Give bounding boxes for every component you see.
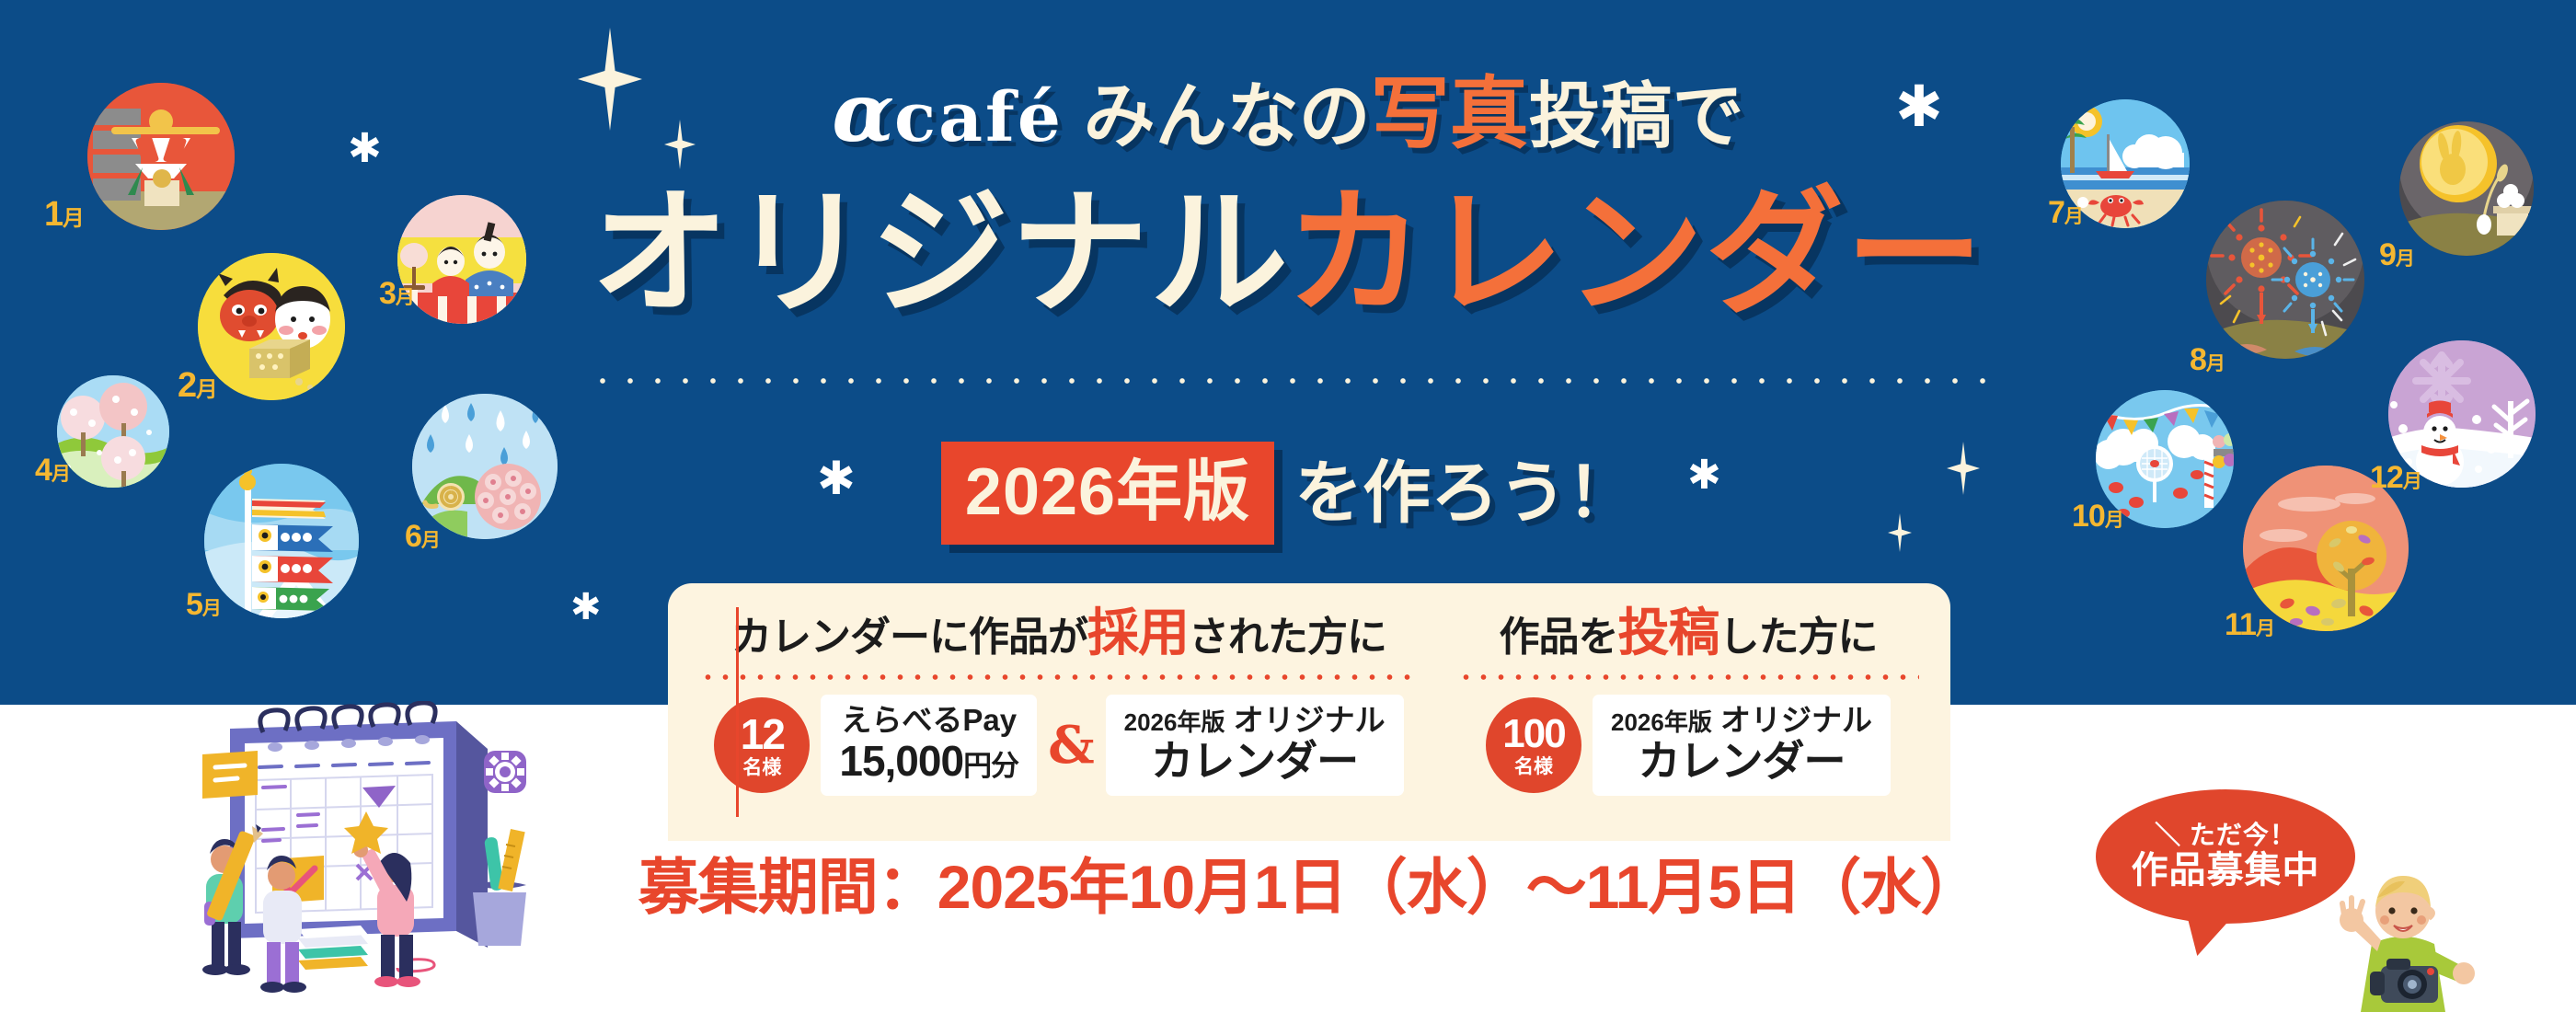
title-cream-part: オリジナル [591,176,1286,330]
calendar-scene-svg [164,701,569,995]
dotted-separator [699,673,1419,682]
heading-post-text: した方に [1719,615,1878,660]
prize-calendar-original-left: オリジナル [1234,703,1386,737]
month-label-8: 8月 [2190,342,2225,378]
heading-pre-text: 作品を [1500,615,1618,660]
prize-row-posted: 100 名様 2026年版 オリジナル カレンダー [1454,695,1923,796]
month-label-2: 2月 [178,366,217,406]
heading-highlight-text: 投稿 [1618,604,1719,661]
winner-count-badge-100: 100 名様 [1486,697,1581,793]
prize-calendar-name-right: カレンダー [1611,738,1872,785]
prize-row-adopted: 12 名様 えらべるPay 15,000円分 & 2026年版 オリジナル カレ… [696,695,1422,796]
winner-count-badge-12: 12 名様 [714,697,810,793]
prize-box-calendar-right: 2026年版 オリジナル カレンダー [1593,695,1891,796]
prize-pay-amount: 15,000円分 [839,738,1018,785]
prize-pay-label: えらべるPay [839,704,1018,738]
prize-calendar-name-left: カレンダー [1124,738,1386,785]
application-period-text: 募集期間：2025年10月1日（水）～11月5日（水） [638,857,1980,917]
month-label-11: 11月 [2225,607,2274,643]
prize-calendar-label-right: 2026年版 オリジナル [1611,704,1872,738]
ampersand-connector: & [1048,715,1095,776]
prize-calendar-year-left: 2026年版 [1124,708,1225,736]
winner-count-unit: 名様 [742,758,781,777]
dotted-divider [589,375,2006,386]
prize-column-adopted: カレンダーに作品が採用された方に 12 名様 えらべるPay 15,000円分 … [696,607,1422,841]
asterisk-sparkle-icon: ✱ [570,589,602,626]
prize-calendar-year-right: 2026年版 [1611,708,1712,736]
bubble-line-2: 作品募集中 [2132,849,2320,891]
alpha-logo-glyph: α [832,64,894,160]
photographer-svg [2328,856,2493,1012]
prize-heading-adopted: カレンダーに作品が採用された方に [696,607,1422,659]
month-label-5: 5月 [186,587,221,623]
prize-calendar-original-right: オリジナル [1720,703,1872,737]
tagline-part1: みんなの [1084,75,1371,156]
tagline-part2: 投稿で [1529,75,1744,156]
subline-suffix: を作ろう！ [1294,459,1635,527]
heading-post-text: された方に [1189,615,1386,660]
heading-pre-text: カレンダーに作品が [731,615,1087,660]
prize-column-posted: 作品を投稿した方に 100 名様 2026年版 オリジナル カレンダー [1422,607,1923,841]
prize-box-calendar-left: 2026年版 オリジナル カレンダー [1106,695,1404,796]
card-vertical-divider [736,607,739,817]
calendar-illustration [164,701,569,995]
photographer-illustration [2328,856,2493,1012]
application-period-bar: 募集期間：2025年10月1日（水）～11月5日（水） [668,841,1950,933]
heading-highlight-text: 採用 [1087,604,1189,661]
year-edition-badge: 2026年版 [941,442,1274,545]
tagline-highlight: 写真 [1371,70,1529,158]
prize-box-pay: えらべるPay 15,000円分 [821,695,1037,796]
prize-card: カレンダーに作品が採用された方に 12 名様 えらべるPay 15,000円分 … [668,583,1950,841]
prize-pay-number: 15,000 [839,737,963,785]
tagline: αcafé みんなの写真投稿で [0,72,2576,154]
cafe-wordmark: café [894,78,1064,157]
page-title: オリジナルカレンダー [0,184,2576,322]
prize-heading-posted: 作品を投稿した方に [1454,607,1923,659]
title-orange-part: カレンダー [1286,176,1985,330]
bubble-line-1: ＼ ただ今！ [2155,822,2296,850]
prize-pay-unit: 円分 [963,750,1018,782]
winner-count-number: 100 [1502,714,1564,754]
prize-calendar-label-left: 2026年版 オリジナル [1124,704,1386,738]
winner-count-number: 12 [741,713,784,755]
speech-bubble: ＼ ただ今！ 作品募集中 [2096,789,2355,924]
subline: 2026年版を作ろう！ [0,442,2576,545]
winner-count-unit: 名様 [1514,757,1553,776]
campaign-banner: ✱ ✱ ✱ ✱ ✱ 1月 [0,0,2576,1012]
dotted-separator [1457,673,1919,682]
